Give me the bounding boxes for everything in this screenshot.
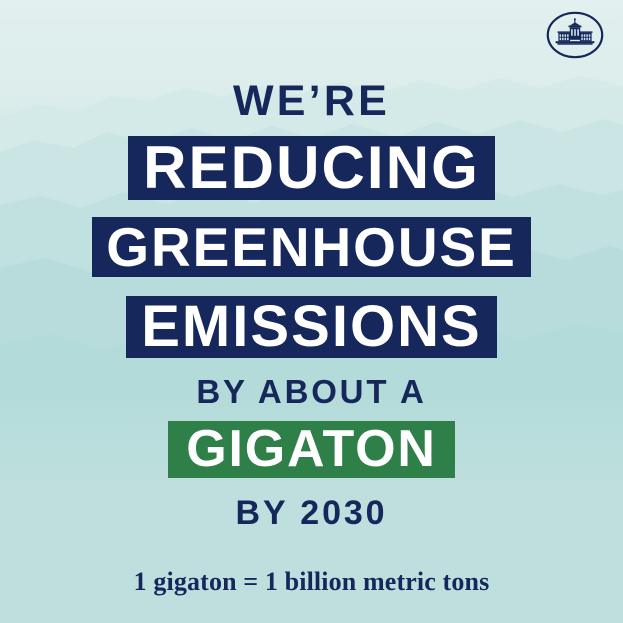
headline-line-greenhouse: GREENHOUSE xyxy=(92,217,530,277)
headline-line-emissions-wrapper: EMISSIONS xyxy=(0,296,623,358)
headline-block: WE’RE REDUCING GREENHOUSE EMISSIONS BY A… xyxy=(0,0,623,623)
headline-line-by-about-a: BY ABOUT A xyxy=(0,374,623,410)
headline-line-gigaton: GIGATON xyxy=(168,421,455,478)
headline-line-were: WE’RE xyxy=(0,78,623,124)
headline-line-reducing: REDUCING xyxy=(128,136,495,200)
headline-line-emissions: EMISSIONS xyxy=(126,296,497,358)
headline-line-reducing-wrapper: REDUCING xyxy=(0,136,623,200)
footnote-text: 1 gigaton = 1 billion metric tons xyxy=(0,567,623,597)
headline-line-by-2030: BY 2030 xyxy=(0,494,623,532)
headline-line-greenhouse-wrapper: GREENHOUSE xyxy=(0,217,623,277)
headline-line-gigaton-wrapper: GIGATON xyxy=(0,421,623,478)
poster-canvas: WE’RE REDUCING GREENHOUSE EMISSIONS BY A… xyxy=(0,0,623,623)
